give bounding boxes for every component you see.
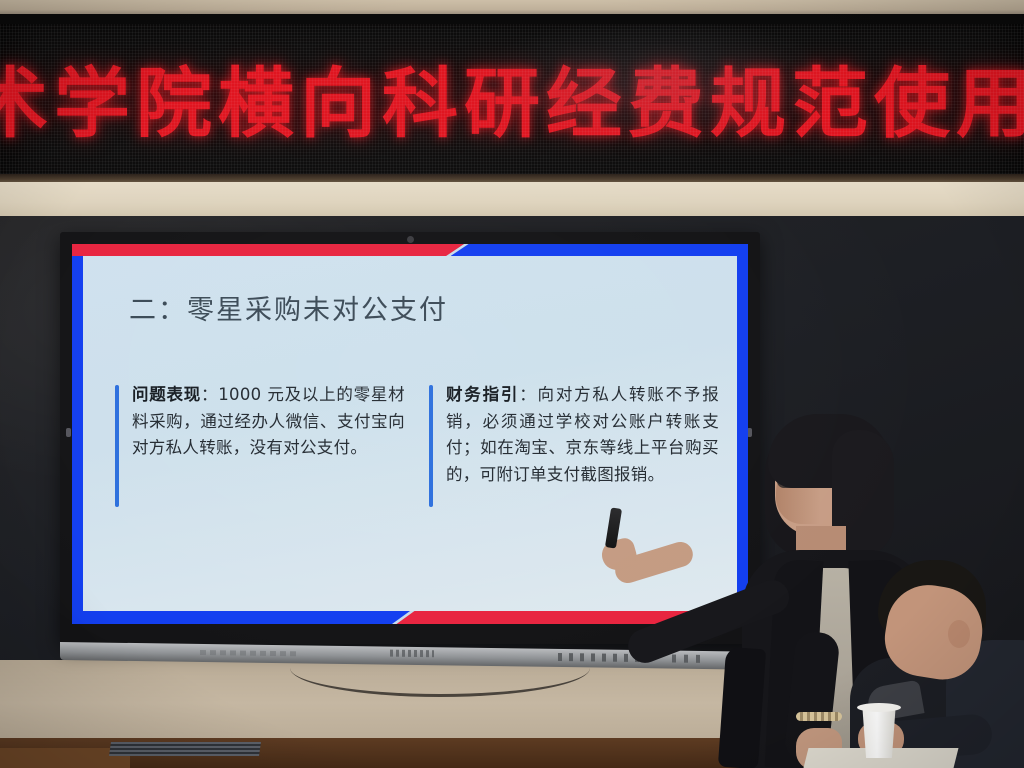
attendee-ear <box>948 620 970 648</box>
slide-column-problem: 问题表现：1000 元及以上的零星材料采购，通过经办人微信、支付宝向对方私人转账… <box>115 382 405 489</box>
led-banner-text: 术学院横向科研经费规范使用专 <box>0 66 1024 142</box>
led-banner: 术学院横向科研经费规范使用专 <box>0 14 1024 180</box>
slide-column-guidance-separator: ： <box>519 385 537 404</box>
wall-strip <box>0 182 1024 220</box>
slide-column-problem-separator: ： <box>201 385 218 404</box>
slide-title: 二：零星采购未对公支付 <box>129 288 448 327</box>
bezel-vent-strip <box>200 650 300 656</box>
stacked-materials <box>109 742 261 756</box>
slide-column-problem-label: 问题表现 <box>132 385 201 404</box>
slide-column-problem-text: 问题表现：1000 元及以上的零星材料采购，通过经办人微信、支付宝向对方私人转账… <box>132 382 405 462</box>
paper-cup[interactable] <box>860 706 898 758</box>
slide-column-guidance-label: 财务指引 <box>446 385 519 404</box>
slide-border-top-blue <box>451 244 748 256</box>
slide-border-top-red <box>72 244 464 256</box>
slide-border-top <box>72 244 748 256</box>
slide-border-left <box>72 254 83 624</box>
camera-icon <box>407 236 414 243</box>
bracelet-icon <box>796 712 842 721</box>
bezel-sensor-left <box>66 428 71 437</box>
paper-cup-rim <box>857 703 901 712</box>
lecture-room-scene: 术学院横向科研经费规范使用专 二：零星采购未对公支付 问题表现：1000 元及以… <box>0 0 1024 768</box>
slide-border-bottom-blue <box>72 611 410 624</box>
brand-logo-icon <box>390 650 434 658</box>
led-banner-top-frame <box>0 14 1024 24</box>
presenter-bag <box>718 647 766 768</box>
